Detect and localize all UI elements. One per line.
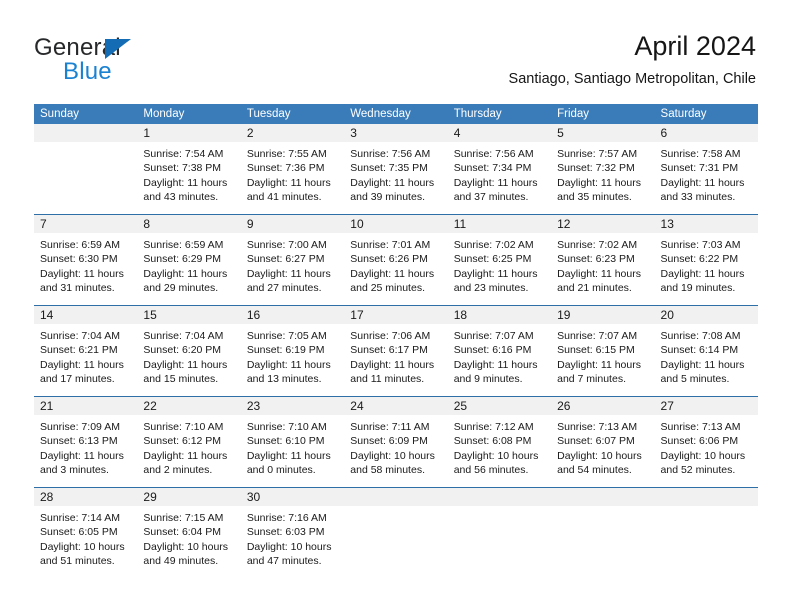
day-detail-line: Sunset: 7:31 PM (661, 161, 752, 175)
day-details (551, 506, 654, 511)
day-detail-line: Daylight: 10 hours (143, 540, 234, 554)
day-detail-line: Daylight: 11 hours (454, 267, 545, 281)
day-number (448, 488, 551, 506)
day-detail-line: and 11 minutes. (350, 372, 441, 386)
day-details: Sunrise: 6:59 AMSunset: 6:29 PMDaylight:… (137, 233, 240, 295)
day-details: Sunrise: 7:11 AMSunset: 6:09 PMDaylight:… (344, 415, 447, 477)
day-detail-line: Sunrise: 7:54 AM (143, 147, 234, 161)
day-cell-4[interactable]: 4Sunrise: 7:56 AMSunset: 7:34 PMDaylight… (448, 124, 551, 214)
day-detail-line: Sunrise: 7:57 AM (557, 147, 648, 161)
weekday-header-saturday: Saturday (655, 104, 758, 124)
day-cell-24[interactable]: 24Sunrise: 7:11 AMSunset: 6:09 PMDayligh… (344, 397, 447, 487)
day-number: 27 (655, 397, 758, 415)
day-detail-line: Daylight: 11 hours (557, 267, 648, 281)
day-details (655, 506, 758, 511)
day-detail-line: and 56 minutes. (454, 463, 545, 477)
day-detail-line: Sunset: 6:23 PM (557, 252, 648, 266)
day-number: 13 (655, 215, 758, 233)
day-number: 22 (137, 397, 240, 415)
weekday-header-thursday: Thursday (448, 104, 551, 124)
calendar-week-row: 1Sunrise: 7:54 AMSunset: 7:38 PMDaylight… (34, 124, 758, 214)
day-cell-19[interactable]: 19Sunrise: 7:07 AMSunset: 6:15 PMDayligh… (551, 306, 654, 396)
day-detail-line: Sunset: 6:15 PM (557, 343, 648, 357)
day-cell-7[interactable]: 7Sunrise: 6:59 AMSunset: 6:30 PMDaylight… (34, 215, 137, 305)
page-title: April 2024 (509, 30, 756, 62)
day-number: 16 (241, 306, 344, 324)
day-detail-line: Sunrise: 7:07 AM (557, 329, 648, 343)
day-detail-line: and 37 minutes. (454, 190, 545, 204)
day-number: 2 (241, 124, 344, 142)
day-detail-line: Sunrise: 7:08 AM (661, 329, 752, 343)
calendar-table: SundayMondayTuesdayWednesdayThursdayFrid… (34, 104, 758, 578)
day-detail-line: and 43 minutes. (143, 190, 234, 204)
day-cell-16[interactable]: 16Sunrise: 7:05 AMSunset: 6:19 PMDayligh… (241, 306, 344, 396)
day-detail-line: Sunrise: 7:55 AM (247, 147, 338, 161)
day-number: 4 (448, 124, 551, 142)
title-block: April 2024 Santiago, Santiago Metropolit… (509, 30, 756, 88)
day-details (344, 506, 447, 511)
day-number: 21 (34, 397, 137, 415)
day-detail-line: Daylight: 11 hours (143, 449, 234, 463)
day-detail-line: Sunset: 6:19 PM (247, 343, 338, 357)
day-details: Sunrise: 7:07 AMSunset: 6:15 PMDaylight:… (551, 324, 654, 386)
calendar-weeks: 1Sunrise: 7:54 AMSunset: 7:38 PMDaylight… (34, 124, 758, 578)
day-details (34, 142, 137, 147)
day-detail-line: Daylight: 10 hours (661, 449, 752, 463)
day-detail-line: Sunrise: 7:02 AM (557, 238, 648, 252)
day-detail-line: Daylight: 11 hours (143, 358, 234, 372)
day-detail-line: Daylight: 11 hours (247, 267, 338, 281)
day-number: 10 (344, 215, 447, 233)
day-cell-20[interactable]: 20Sunrise: 7:08 AMSunset: 6:14 PMDayligh… (655, 306, 758, 396)
day-cell-empty (34, 124, 137, 214)
day-detail-line: and 47 minutes. (247, 554, 338, 568)
day-detail-line: Sunset: 6:14 PM (661, 343, 752, 357)
day-detail-line: Sunrise: 7:09 AM (40, 420, 131, 434)
day-cell-2[interactable]: 2Sunrise: 7:55 AMSunset: 7:36 PMDaylight… (241, 124, 344, 214)
day-detail-line: and 3 minutes. (40, 463, 131, 477)
day-number: 26 (551, 397, 654, 415)
day-detail-line: Daylight: 11 hours (661, 267, 752, 281)
day-detail-line: Daylight: 11 hours (40, 449, 131, 463)
day-cell-26[interactable]: 26Sunrise: 7:13 AMSunset: 6:07 PMDayligh… (551, 397, 654, 487)
day-cell-8[interactable]: 8Sunrise: 6:59 AMSunset: 6:29 PMDaylight… (137, 215, 240, 305)
day-number: 1 (137, 124, 240, 142)
day-cell-30[interactable]: 30Sunrise: 7:16 AMSunset: 6:03 PMDayligh… (241, 488, 344, 578)
day-cell-empty (551, 488, 654, 578)
weekday-header-wednesday: Wednesday (344, 104, 447, 124)
day-detail-line: and 39 minutes. (350, 190, 441, 204)
day-cell-11[interactable]: 11Sunrise: 7:02 AMSunset: 6:25 PMDayligh… (448, 215, 551, 305)
day-detail-line: Sunrise: 6:59 AM (143, 238, 234, 252)
day-detail-line: and 31 minutes. (40, 281, 131, 295)
day-detail-line: Sunset: 7:38 PM (143, 161, 234, 175)
calendar-week-row: 7Sunrise: 6:59 AMSunset: 6:30 PMDaylight… (34, 214, 758, 305)
day-cell-13[interactable]: 13Sunrise: 7:03 AMSunset: 6:22 PMDayligh… (655, 215, 758, 305)
day-detail-line: and 51 minutes. (40, 554, 131, 568)
day-number: 19 (551, 306, 654, 324)
day-details: Sunrise: 7:15 AMSunset: 6:04 PMDaylight:… (137, 506, 240, 568)
day-details: Sunrise: 7:03 AMSunset: 6:22 PMDaylight:… (655, 233, 758, 295)
day-detail-line: Sunrise: 7:00 AM (247, 238, 338, 252)
day-detail-line: Sunset: 6:22 PM (661, 252, 752, 266)
day-detail-line: and 19 minutes. (661, 281, 752, 295)
day-detail-line: Sunset: 6:17 PM (350, 343, 441, 357)
day-detail-line: Sunrise: 7:14 AM (40, 511, 131, 525)
weekday-header-row: SundayMondayTuesdayWednesdayThursdayFrid… (34, 104, 758, 124)
day-details: Sunrise: 7:12 AMSunset: 6:08 PMDaylight:… (448, 415, 551, 477)
day-details: Sunrise: 7:02 AMSunset: 6:23 PMDaylight:… (551, 233, 654, 295)
day-detail-line: Daylight: 11 hours (661, 176, 752, 190)
day-details: Sunrise: 7:16 AMSunset: 6:03 PMDaylight:… (241, 506, 344, 568)
day-cell-12[interactable]: 12Sunrise: 7:02 AMSunset: 6:23 PMDayligh… (551, 215, 654, 305)
day-detail-line: and 2 minutes. (143, 463, 234, 477)
day-number: 3 (344, 124, 447, 142)
day-details: Sunrise: 7:54 AMSunset: 7:38 PMDaylight:… (137, 142, 240, 204)
day-detail-line: Sunrise: 7:15 AM (143, 511, 234, 525)
day-detail-line: Sunrise: 7:10 AM (143, 420, 234, 434)
day-number: 6 (655, 124, 758, 142)
day-number: 17 (344, 306, 447, 324)
day-number (344, 488, 447, 506)
weekday-header-friday: Friday (551, 104, 654, 124)
day-detail-line: Sunrise: 7:06 AM (350, 329, 441, 343)
day-details: Sunrise: 7:09 AMSunset: 6:13 PMDaylight:… (34, 415, 137, 477)
calendar-page: General Blue April 2024 Santiago, Santia… (0, 0, 792, 612)
day-detail-line: and 21 minutes. (557, 281, 648, 295)
day-detail-line: and 0 minutes. (247, 463, 338, 477)
day-number (655, 488, 758, 506)
day-detail-line: and 52 minutes. (661, 463, 752, 477)
day-detail-line: Sunrise: 7:05 AM (247, 329, 338, 343)
day-cell-15[interactable]: 15Sunrise: 7:04 AMSunset: 6:20 PMDayligh… (137, 306, 240, 396)
day-detail-line: and 17 minutes. (40, 372, 131, 386)
day-detail-line: Sunrise: 7:16 AM (247, 511, 338, 525)
day-detail-line: and 49 minutes. (143, 554, 234, 568)
day-detail-line: and 9 minutes. (454, 372, 545, 386)
day-cell-14[interactable]: 14Sunrise: 7:04 AMSunset: 6:21 PMDayligh… (34, 306, 137, 396)
day-detail-line: Sunrise: 7:12 AM (454, 420, 545, 434)
day-detail-line: Sunset: 6:08 PM (454, 434, 545, 448)
day-detail-line: Sunrise: 7:10 AM (247, 420, 338, 434)
day-detail-line: Sunset: 6:16 PM (454, 343, 545, 357)
day-details: Sunrise: 7:56 AMSunset: 7:34 PMDaylight:… (448, 142, 551, 204)
day-detail-line: Sunset: 6:29 PM (143, 252, 234, 266)
location-subtitle: Santiago, Santiago Metropolitan, Chile (509, 70, 756, 88)
day-cell-23[interactable]: 23Sunrise: 7:10 AMSunset: 6:10 PMDayligh… (241, 397, 344, 487)
day-number: 14 (34, 306, 137, 324)
day-cell-27[interactable]: 27Sunrise: 7:13 AMSunset: 6:06 PMDayligh… (655, 397, 758, 487)
day-cell-10[interactable]: 10Sunrise: 7:01 AMSunset: 6:26 PMDayligh… (344, 215, 447, 305)
day-details: Sunrise: 7:02 AMSunset: 6:25 PMDaylight:… (448, 233, 551, 295)
day-detail-line: Sunset: 7:32 PM (557, 161, 648, 175)
day-detail-line: Daylight: 10 hours (40, 540, 131, 554)
day-detail-line: Daylight: 11 hours (557, 176, 648, 190)
day-detail-line: and 5 minutes. (661, 372, 752, 386)
day-detail-line: and 54 minutes. (557, 463, 648, 477)
day-detail-line: Sunset: 6:07 PM (557, 434, 648, 448)
day-detail-line: Sunset: 6:04 PM (143, 525, 234, 539)
day-detail-line: Sunset: 6:13 PM (40, 434, 131, 448)
day-detail-line: Sunrise: 7:13 AM (557, 420, 648, 434)
weekday-header-monday: Monday (137, 104, 240, 124)
logo-text-blue: Blue (63, 58, 112, 86)
day-detail-line: Daylight: 11 hours (247, 358, 338, 372)
day-detail-line: Daylight: 11 hours (454, 358, 545, 372)
day-detail-line: Sunrise: 7:11 AM (350, 420, 441, 434)
day-details: Sunrise: 7:13 AMSunset: 6:06 PMDaylight:… (655, 415, 758, 477)
day-detail-line: Sunrise: 7:13 AM (661, 420, 752, 434)
day-details: Sunrise: 7:05 AMSunset: 6:19 PMDaylight:… (241, 324, 344, 386)
day-number: 5 (551, 124, 654, 142)
day-number: 12 (551, 215, 654, 233)
day-number: 24 (344, 397, 447, 415)
day-detail-line: Daylight: 11 hours (350, 267, 441, 281)
day-details: Sunrise: 7:56 AMSunset: 7:35 PMDaylight:… (344, 142, 447, 204)
day-detail-line: and 7 minutes. (557, 372, 648, 386)
day-number: 28 (34, 488, 137, 506)
day-details: Sunrise: 6:59 AMSunset: 6:30 PMDaylight:… (34, 233, 137, 295)
day-cell-6[interactable]: 6Sunrise: 7:58 AMSunset: 7:31 PMDaylight… (655, 124, 758, 214)
day-details: Sunrise: 7:07 AMSunset: 6:16 PMDaylight:… (448, 324, 551, 386)
day-number: 25 (448, 397, 551, 415)
day-cell-empty (448, 488, 551, 578)
day-number: 11 (448, 215, 551, 233)
logo-triangle-icon (105, 39, 131, 59)
day-detail-line: and 23 minutes. (454, 281, 545, 295)
day-detail-line: and 41 minutes. (247, 190, 338, 204)
day-detail-line: Sunrise: 7:56 AM (454, 147, 545, 161)
day-cell-9[interactable]: 9Sunrise: 7:00 AMSunset: 6:27 PMDaylight… (241, 215, 344, 305)
day-cell-17[interactable]: 17Sunrise: 7:06 AMSunset: 6:17 PMDayligh… (344, 306, 447, 396)
day-details: Sunrise: 7:10 AMSunset: 6:10 PMDaylight:… (241, 415, 344, 477)
day-cell-1[interactable]: 1Sunrise: 7:54 AMSunset: 7:38 PMDaylight… (137, 124, 240, 214)
day-cell-empty (344, 488, 447, 578)
day-detail-line: Sunset: 6:21 PM (40, 343, 131, 357)
day-cell-25[interactable]: 25Sunrise: 7:12 AMSunset: 6:08 PMDayligh… (448, 397, 551, 487)
day-detail-line: Daylight: 11 hours (143, 176, 234, 190)
day-detail-line: Sunset: 7:35 PM (350, 161, 441, 175)
day-cell-18[interactable]: 18Sunrise: 7:07 AMSunset: 6:16 PMDayligh… (448, 306, 551, 396)
day-detail-line: Sunrise: 7:04 AM (143, 329, 234, 343)
day-details: Sunrise: 7:58 AMSunset: 7:31 PMDaylight:… (655, 142, 758, 204)
day-detail-line: Daylight: 10 hours (350, 449, 441, 463)
day-detail-line: Daylight: 11 hours (40, 267, 131, 281)
day-detail-line: and 27 minutes. (247, 281, 338, 295)
day-details: Sunrise: 7:10 AMSunset: 6:12 PMDaylight:… (137, 415, 240, 477)
day-detail-line: and 25 minutes. (350, 281, 441, 295)
day-cell-3[interactable]: 3Sunrise: 7:56 AMSunset: 7:35 PMDaylight… (344, 124, 447, 214)
day-details: Sunrise: 7:00 AMSunset: 6:27 PMDaylight:… (241, 233, 344, 295)
day-detail-line: Sunset: 6:25 PM (454, 252, 545, 266)
day-detail-line: Sunset: 6:09 PM (350, 434, 441, 448)
day-details (448, 506, 551, 511)
day-detail-line: Sunset: 6:05 PM (40, 525, 131, 539)
page-header: General Blue April 2024 Santiago, Santia… (0, 0, 792, 100)
day-detail-line: Daylight: 11 hours (143, 267, 234, 281)
day-detail-line: Daylight: 11 hours (40, 358, 131, 372)
day-detail-line: Daylight: 11 hours (454, 176, 545, 190)
day-detail-line: Daylight: 11 hours (350, 176, 441, 190)
day-details: Sunrise: 7:13 AMSunset: 6:07 PMDaylight:… (551, 415, 654, 477)
day-details: Sunrise: 7:04 AMSunset: 6:20 PMDaylight:… (137, 324, 240, 386)
day-number: 18 (448, 306, 551, 324)
day-cell-21[interactable]: 21Sunrise: 7:09 AMSunset: 6:13 PMDayligh… (34, 397, 137, 487)
day-detail-line: Daylight: 10 hours (557, 449, 648, 463)
day-detail-line: Daylight: 11 hours (247, 176, 338, 190)
day-detail-line: Sunset: 7:36 PM (247, 161, 338, 175)
day-cell-29[interactable]: 29Sunrise: 7:15 AMSunset: 6:04 PMDayligh… (137, 488, 240, 578)
day-number: 23 (241, 397, 344, 415)
day-detail-line: Sunset: 6:10 PM (247, 434, 338, 448)
day-number: 9 (241, 215, 344, 233)
day-detail-line: Sunrise: 7:58 AM (661, 147, 752, 161)
day-details: Sunrise: 7:04 AMSunset: 6:21 PMDaylight:… (34, 324, 137, 386)
day-number: 7 (34, 215, 137, 233)
day-detail-line: Daylight: 10 hours (247, 540, 338, 554)
day-detail-line: and 33 minutes. (661, 190, 752, 204)
day-detail-line: Daylight: 11 hours (350, 358, 441, 372)
day-detail-line: Sunrise: 7:56 AM (350, 147, 441, 161)
day-detail-line: Sunrise: 7:01 AM (350, 238, 441, 252)
day-details: Sunrise: 7:01 AMSunset: 6:26 PMDaylight:… (344, 233, 447, 295)
weekday-header-tuesday: Tuesday (241, 104, 344, 124)
day-detail-line: and 35 minutes. (557, 190, 648, 204)
day-detail-line: and 13 minutes. (247, 372, 338, 386)
day-detail-line: and 15 minutes. (143, 372, 234, 386)
day-detail-line: Daylight: 11 hours (247, 449, 338, 463)
day-number: 15 (137, 306, 240, 324)
day-details: Sunrise: 7:57 AMSunset: 7:32 PMDaylight:… (551, 142, 654, 204)
day-cell-empty (655, 488, 758, 578)
calendar-week-row: 21Sunrise: 7:09 AMSunset: 6:13 PMDayligh… (34, 396, 758, 487)
day-detail-line: Sunrise: 7:03 AM (661, 238, 752, 252)
day-detail-line: Sunset: 6:12 PM (143, 434, 234, 448)
day-details: Sunrise: 7:14 AMSunset: 6:05 PMDaylight:… (34, 506, 137, 568)
day-detail-line: Sunrise: 7:04 AM (40, 329, 131, 343)
calendar-week-row: 14Sunrise: 7:04 AMSunset: 6:21 PMDayligh… (34, 305, 758, 396)
day-detail-line: Sunset: 6:27 PM (247, 252, 338, 266)
day-number (34, 124, 137, 142)
day-cell-28[interactable]: 28Sunrise: 7:14 AMSunset: 6:05 PMDayligh… (34, 488, 137, 578)
weekday-header-sunday: Sunday (34, 104, 137, 124)
day-cell-5[interactable]: 5Sunrise: 7:57 AMSunset: 7:32 PMDaylight… (551, 124, 654, 214)
day-detail-line: Sunset: 6:03 PM (247, 525, 338, 539)
day-number: 29 (137, 488, 240, 506)
day-detail-line: Daylight: 10 hours (454, 449, 545, 463)
day-details: Sunrise: 7:06 AMSunset: 6:17 PMDaylight:… (344, 324, 447, 386)
day-number (551, 488, 654, 506)
day-number: 8 (137, 215, 240, 233)
day-cell-22[interactable]: 22Sunrise: 7:10 AMSunset: 6:12 PMDayligh… (137, 397, 240, 487)
day-detail-line: Sunrise: 7:07 AM (454, 329, 545, 343)
day-number: 20 (655, 306, 758, 324)
day-detail-line: Sunset: 7:34 PM (454, 161, 545, 175)
day-detail-line: Sunset: 6:30 PM (40, 252, 131, 266)
day-detail-line: Sunset: 6:20 PM (143, 343, 234, 357)
day-detail-line: Sunrise: 7:02 AM (454, 238, 545, 252)
day-detail-line: Sunset: 6:06 PM (661, 434, 752, 448)
day-detail-line: Sunset: 6:26 PM (350, 252, 441, 266)
day-detail-line: Daylight: 11 hours (661, 358, 752, 372)
day-detail-line: Daylight: 11 hours (557, 358, 648, 372)
day-detail-line: Sunrise: 6:59 AM (40, 238, 131, 252)
day-detail-line: and 58 minutes. (350, 463, 441, 477)
day-detail-line: and 29 minutes. (143, 281, 234, 295)
day-number: 30 (241, 488, 344, 506)
general-blue-logo: General Blue (34, 34, 234, 86)
calendar-week-row: 28Sunrise: 7:14 AMSunset: 6:05 PMDayligh… (34, 487, 758, 578)
day-details: Sunrise: 7:08 AMSunset: 6:14 PMDaylight:… (655, 324, 758, 386)
day-details: Sunrise: 7:55 AMSunset: 7:36 PMDaylight:… (241, 142, 344, 204)
